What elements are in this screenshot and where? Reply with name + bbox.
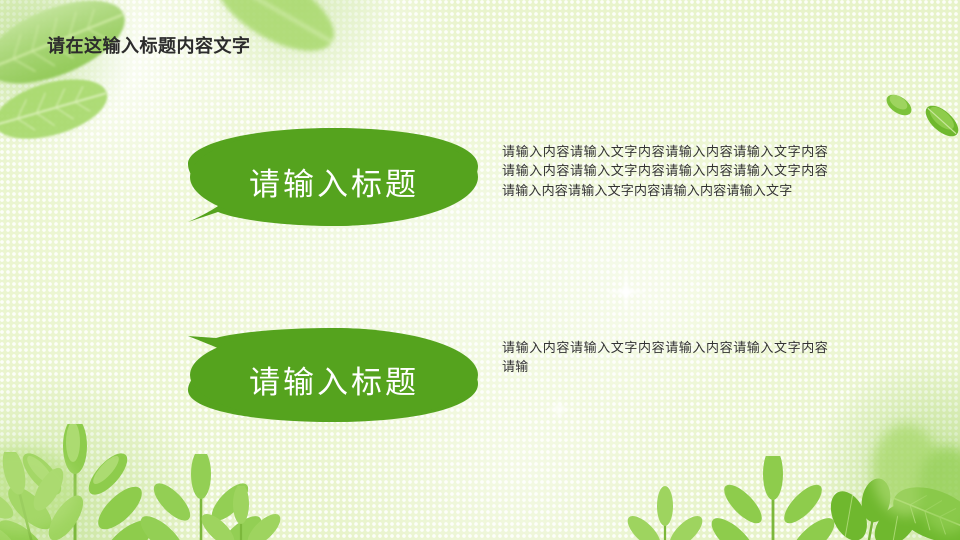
- slide-canvas: 请在这输入标题内容文字 请输入标题 请输入内容请输入文字内容请输入内容请输入文字…: [0, 0, 960, 540]
- speech-bubble-1[interactable]: 请输入标题: [176, 126, 482, 232]
- background-dot-pattern: [0, 0, 960, 540]
- body-text-2: 请输入内容请输入文字内容请输入内容请输入文字内容请输: [502, 338, 828, 377]
- speech-bubble-1-label: 请输入标题: [188, 159, 480, 204]
- page-title: 请在这输入标题内容文字: [47, 32, 251, 58]
- speech-bubble-2-label: 请输入标题: [188, 357, 480, 402]
- body-text-1: 请输入内容请输入文字内容请输入内容请输入文字内容请输入内容请输入文字内容请输入内…: [502, 142, 828, 200]
- speech-bubble-2[interactable]: 请输入标题: [176, 324, 482, 424]
